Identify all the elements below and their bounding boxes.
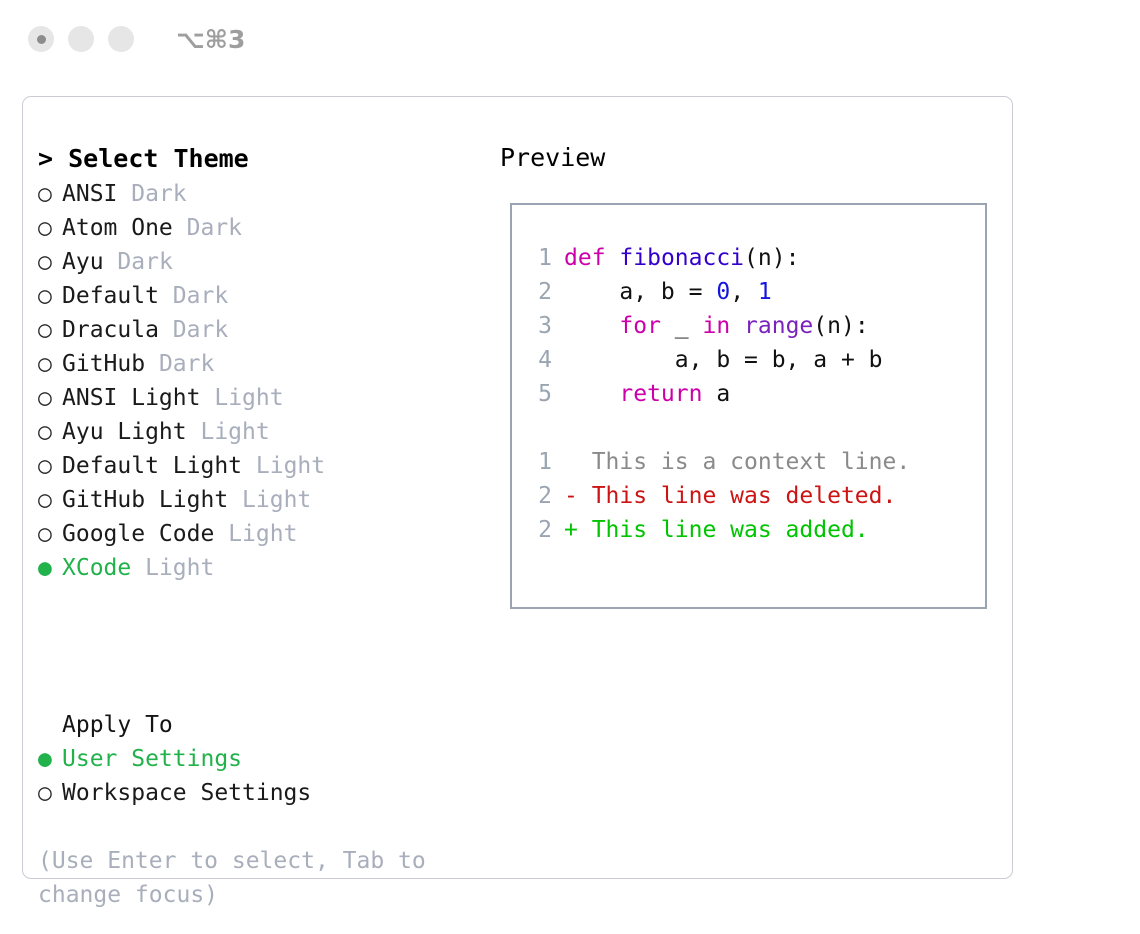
code-token: ,: [730, 279, 758, 305]
code-token: a, b =: [564, 279, 716, 305]
select-theme-heading-label: Select Theme: [68, 144, 249, 173]
preview-column: Preview: [500, 141, 990, 175]
spacer: [228, 487, 242, 513]
theme-kind-label: Light: [200, 419, 269, 445]
apply-to-section: Apply To ●User Settings○Workspace Settin…: [38, 708, 478, 810]
apply-to-heading: Apply To: [38, 708, 478, 742]
theme-name-label: Ayu: [62, 249, 104, 275]
code-line: 2 a, b = 0, 1: [526, 275, 985, 309]
diff-line: 2- This line was deleted.: [526, 479, 985, 513]
theme-list-item[interactable]: ○GitHub Dark: [38, 347, 478, 381]
code-line: 4 a, b = b, a + b: [526, 343, 985, 377]
radio-unselected-icon: ○: [38, 776, 62, 810]
theme-list-column: > Select Theme ○ANSI Dark○Atom One Dark○…: [38, 141, 478, 585]
code-diff-separator: [526, 411, 985, 445]
diff-line: 1 This is a context line.: [526, 445, 985, 479]
theme-name-label: Atom One: [62, 215, 173, 241]
code-token: (n):: [813, 313, 868, 339]
theme-kind-label: Dark: [173, 317, 228, 343]
theme-name-label: Dracula: [62, 317, 159, 343]
theme-list-item[interactable]: ○ANSI Light Light: [38, 381, 478, 415]
theme-name-label: GitHub Light: [62, 487, 228, 513]
theme-list-item[interactable]: ○Default Dark: [38, 279, 478, 313]
theme-list-item[interactable]: ○Google Code Light: [38, 517, 478, 551]
diff-line-text: + This line was added.: [564, 517, 869, 543]
theme-kind-label: Light: [256, 453, 325, 479]
code-token: (n):: [744, 245, 799, 271]
spacer: [104, 249, 118, 275]
theme-list: ○ANSI Dark○Atom One Dark○Ayu Dark○Defaul…: [38, 177, 478, 585]
code-token: [606, 245, 620, 271]
code-token: [564, 313, 619, 339]
theme-name-label: Default: [62, 283, 159, 309]
preview-heading: Preview: [500, 141, 990, 175]
traffic-light-close-dot: [37, 35, 46, 44]
code-line: 1def fibonacci(n):: [526, 241, 985, 275]
spacer: [159, 317, 173, 343]
theme-kind-label: Dark: [173, 283, 228, 309]
theme-kind-label: Dark: [187, 215, 242, 241]
apply-to-item[interactable]: ●User Settings: [38, 742, 478, 776]
radio-unselected-icon: ○: [38, 381, 62, 415]
code-line: 3 for _ in range(n):: [526, 309, 985, 343]
spacer: [173, 215, 187, 241]
line-number: 1: [526, 445, 552, 479]
traffic-light-maximize[interactable]: [108, 26, 134, 52]
code-token: return: [619, 381, 702, 407]
code-line: 5 return a: [526, 377, 985, 411]
spacer: [187, 419, 201, 445]
diff-line: 2+ This line was added.: [526, 513, 985, 547]
spacer: [242, 453, 256, 479]
code-token: for: [619, 313, 661, 339]
theme-list-item[interactable]: ○Dracula Dark: [38, 313, 478, 347]
code-token: _: [661, 313, 703, 339]
spacer: [131, 555, 145, 581]
line-number: 2: [526, 479, 552, 513]
code-token: [730, 313, 744, 339]
apply-to-label: Workspace Settings: [62, 780, 311, 806]
theme-name-label: Google Code: [62, 521, 214, 547]
diff-line-text: - This line was deleted.: [564, 483, 896, 509]
line-number: 5: [526, 377, 552, 411]
spacer: [200, 385, 214, 411]
radio-unselected-icon: ○: [38, 347, 62, 381]
radio-unselected-icon: ○: [38, 415, 62, 449]
spacer: [117, 181, 131, 207]
theme-kind-label: Light: [145, 555, 214, 581]
spacer: [145, 351, 159, 377]
select-theme-heading: > Select Theme: [38, 141, 478, 177]
code-token: 1: [758, 279, 772, 305]
theme-kind-label: Dark: [159, 351, 214, 377]
apply-to-list: ●User Settings○Workspace Settings: [38, 742, 478, 810]
theme-list-item[interactable]: ○GitHub Light Light: [38, 483, 478, 517]
code-token: [564, 381, 619, 407]
radio-unselected-icon: ○: [38, 483, 62, 517]
traffic-light-minimize[interactable]: [68, 26, 94, 52]
theme-kind-label: Light: [242, 487, 311, 513]
apply-to-label: User Settings: [62, 746, 242, 772]
code-token: range: [744, 313, 813, 339]
theme-kind-label: Dark: [131, 181, 186, 207]
theme-name-label: XCode: [62, 555, 131, 581]
theme-kind-label: Dark: [117, 249, 172, 275]
theme-name-label: GitHub: [62, 351, 145, 377]
theme-list-item[interactable]: ○Default Light Light: [38, 449, 478, 483]
code-token: a: [702, 381, 730, 407]
radio-unselected-icon: ○: [38, 313, 62, 347]
traffic-light-close[interactable]: [28, 26, 54, 52]
code-preview-area: 1def fibonacci(n):2 a, b = 0, 13 for _ i…: [512, 205, 985, 547]
theme-list-item[interactable]: ○Ayu Light Light: [38, 415, 478, 449]
code-token: in: [702, 313, 730, 339]
keyboard-shortcut-label: ⌥⌘3: [176, 25, 245, 54]
theme-list-item[interactable]: ○ANSI Dark: [38, 177, 478, 211]
theme-picker-window: ⌥⌘3 > Select Theme ○ANSI Dark○Atom One D…: [0, 0, 1140, 934]
line-number: 2: [526, 513, 552, 547]
line-number: 2: [526, 275, 552, 309]
theme-list-item[interactable]: ●XCode Light: [38, 551, 478, 585]
theme-name-label: Default Light: [62, 453, 242, 479]
radio-selected-icon: ●: [38, 551, 62, 585]
diff-line-text: This is a context line.: [564, 449, 910, 475]
code-token: def: [564, 245, 606, 271]
preview-box: 1def fibonacci(n):2 a, b = 0, 13 for _ i…: [510, 203, 987, 609]
main-panel: > Select Theme ○ANSI Dark○Atom One Dark○…: [22, 96, 1013, 879]
radio-unselected-icon: ○: [38, 517, 62, 551]
theme-kind-label: Light: [228, 521, 297, 547]
radio-unselected-icon: ○: [38, 245, 62, 279]
radio-unselected-icon: ○: [38, 177, 62, 211]
line-number: 4: [526, 343, 552, 377]
code-token: 0: [716, 279, 730, 305]
theme-name-label: Ayu Light: [62, 419, 187, 445]
theme-list-item[interactable]: ○Ayu Dark: [38, 245, 478, 279]
panel-body: > Select Theme ○ANSI Dark○Atom One Dark○…: [23, 97, 1012, 878]
apply-to-item[interactable]: ○Workspace Settings: [38, 776, 478, 810]
window-titlebar: ⌥⌘3: [0, 0, 1140, 78]
code-token: fibonacci: [619, 245, 744, 271]
radio-unselected-icon: ○: [38, 279, 62, 313]
theme-name-label: ANSI: [62, 181, 117, 207]
keyboard-hint-text: (Use Enter to select, Tab to change focu…: [38, 844, 458, 912]
spacer: [159, 283, 173, 309]
theme-list-item[interactable]: ○Atom One Dark: [38, 211, 478, 245]
line-number: 1: [526, 241, 552, 275]
spacer: [214, 521, 228, 547]
radio-selected-icon: ●: [38, 742, 62, 776]
prompt-caret-icon: >: [38, 144, 68, 173]
theme-kind-label: Light: [214, 385, 283, 411]
radio-unselected-icon: ○: [38, 449, 62, 483]
code-token: a, b = b, a + b: [564, 347, 883, 373]
theme-name-label: ANSI Light: [62, 385, 200, 411]
radio-unselected-icon: ○: [38, 211, 62, 245]
line-number: 3: [526, 309, 552, 343]
